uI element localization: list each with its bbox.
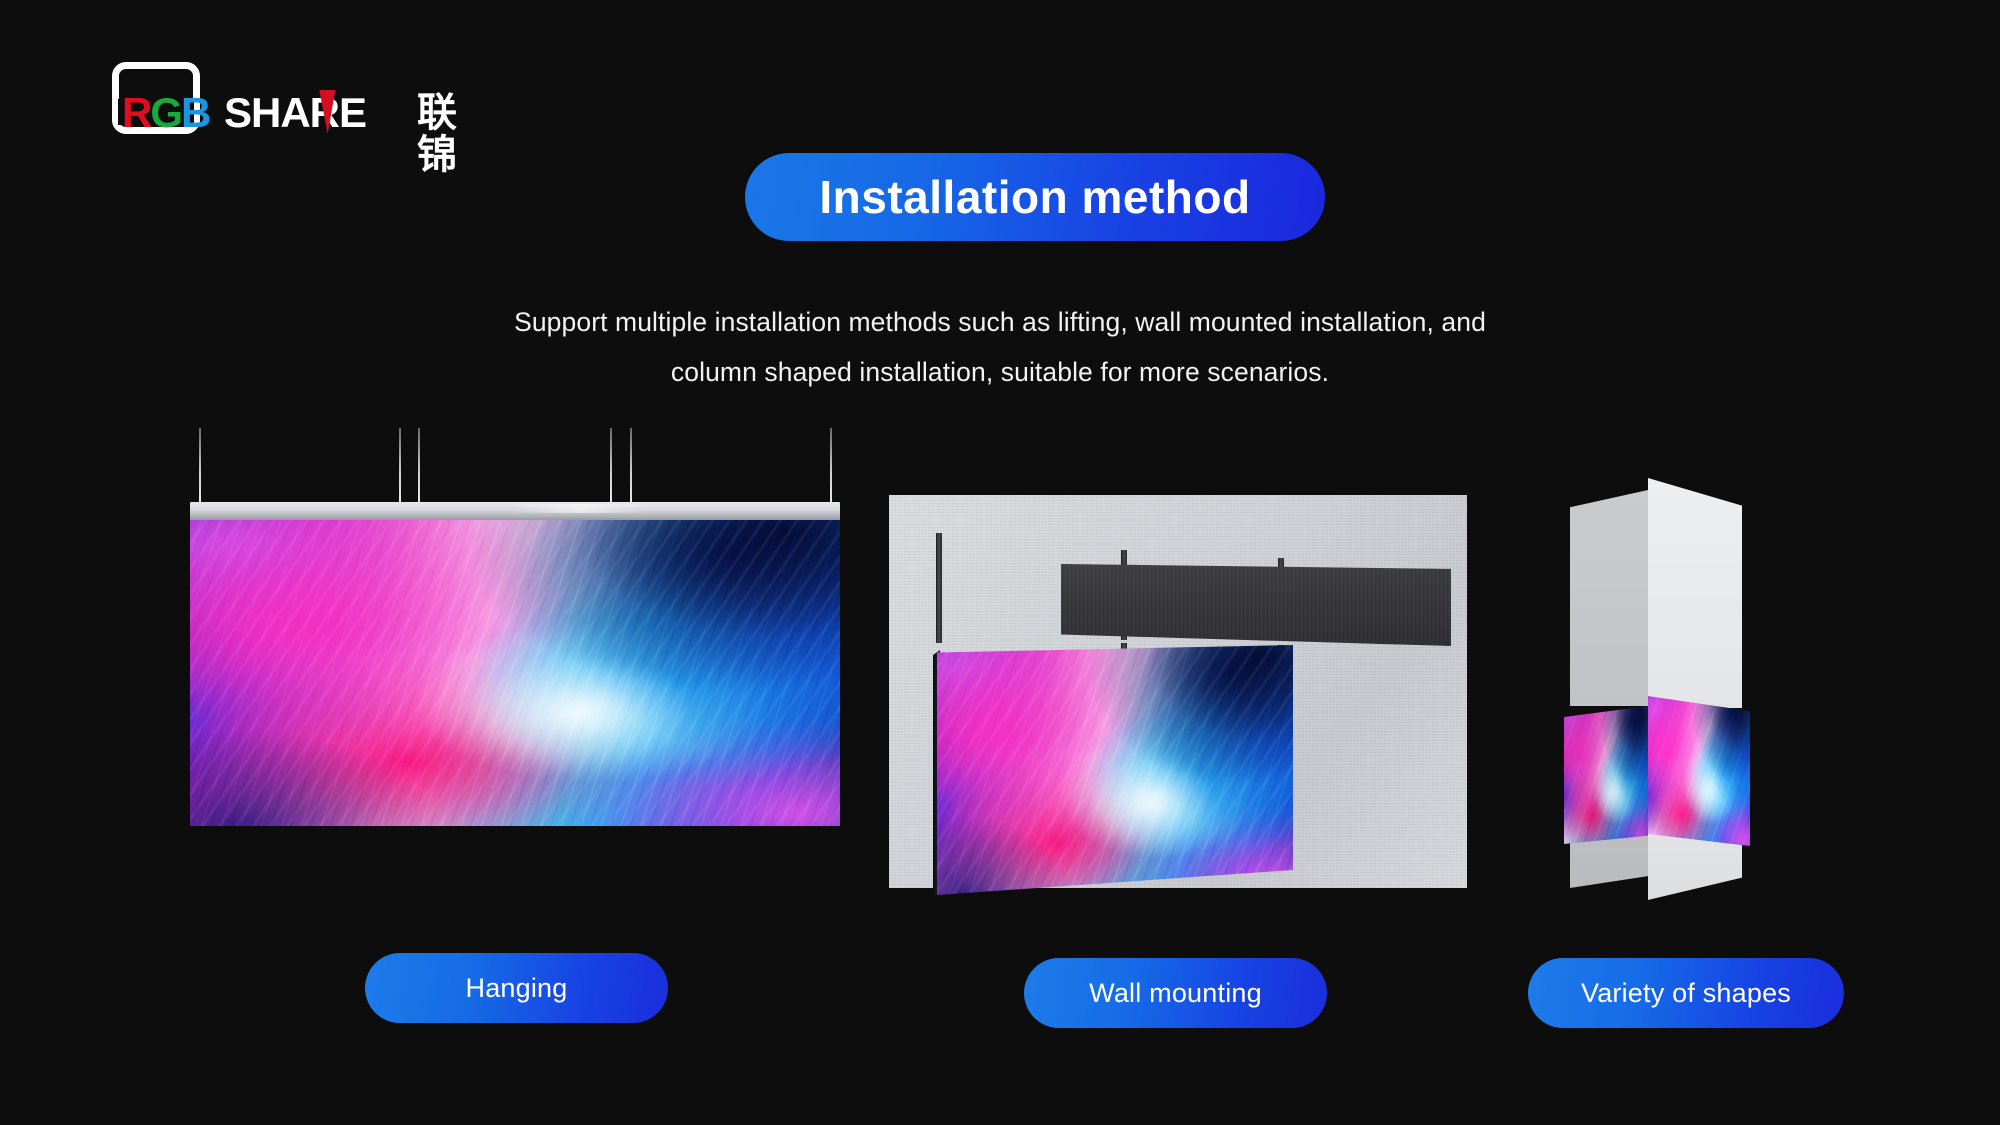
wall-led-screen bbox=[937, 645, 1293, 895]
column-face-left-upper bbox=[1570, 490, 1648, 706]
abstract-artwork bbox=[1564, 706, 1648, 844]
abstract-artwork bbox=[937, 645, 1293, 895]
logo-letter-g: G bbox=[150, 89, 181, 136]
artwork-brush-streaks-fine bbox=[937, 645, 1293, 895]
label-variety-of-shapes[interactable]: Variety of shapes bbox=[1528, 958, 1844, 1028]
suspension-cable bbox=[610, 428, 612, 503]
logo-letter-b: B bbox=[181, 89, 209, 136]
suspension-cable bbox=[630, 428, 632, 503]
label-hanging-text: Hanging bbox=[466, 973, 568, 1004]
hanging-installation-image bbox=[190, 428, 840, 888]
label-wall-mounting[interactable]: Wall mounting bbox=[1024, 958, 1327, 1028]
suspension-cable bbox=[199, 428, 201, 503]
artwork-brush-streaks bbox=[1648, 696, 1750, 846]
suspension-cable bbox=[399, 428, 401, 503]
logo-share-text: SHARE bbox=[224, 92, 366, 134]
column-face-right-upper bbox=[1648, 478, 1742, 708]
wall-bar-texture bbox=[1061, 564, 1451, 646]
column-installation-image bbox=[1570, 452, 1760, 922]
logo-letter-r: R bbox=[122, 89, 150, 136]
artwork-brush-streaks bbox=[1564, 706, 1648, 844]
logo-chinese-text: 联锦 bbox=[417, 92, 482, 176]
page-title: Installation method bbox=[819, 170, 1250, 224]
brand-logo: RGB SHARE 联锦 bbox=[112, 62, 482, 134]
suspension-cable bbox=[830, 428, 832, 503]
wall-mount-bar bbox=[1061, 564, 1451, 646]
subtitle-line-1: Support multiple installation methods su… bbox=[400, 297, 1600, 347]
label-variety-of-shapes-text: Variety of shapes bbox=[1581, 978, 1791, 1009]
label-hanging[interactable]: Hanging bbox=[365, 953, 668, 1023]
page-title-pill: Installation method bbox=[745, 153, 1325, 241]
logo-rgb-text: RGB bbox=[122, 92, 209, 134]
column-led-band-left bbox=[1564, 706, 1648, 844]
label-wall-mounting-text: Wall mounting bbox=[1089, 978, 1262, 1009]
suspension-cable bbox=[418, 428, 420, 503]
subtitle-block: Support multiple installation methods su… bbox=[400, 297, 1600, 397]
wall-mounting-image bbox=[889, 495, 1467, 888]
subtitle-line-2: column shaped installation, suitable for… bbox=[400, 347, 1600, 397]
hanging-led-screen bbox=[190, 520, 840, 826]
slide-root: RGB SHARE 联锦 Installation method Support… bbox=[0, 0, 2000, 1125]
artwork-brush-streaks-fine bbox=[190, 520, 840, 826]
column-led-band-right bbox=[1648, 696, 1750, 846]
hanging-bar-highlight bbox=[510, 504, 650, 513]
wall-mount-post bbox=[936, 603, 942, 643]
abstract-artwork bbox=[1648, 696, 1750, 846]
abstract-artwork bbox=[190, 520, 840, 826]
